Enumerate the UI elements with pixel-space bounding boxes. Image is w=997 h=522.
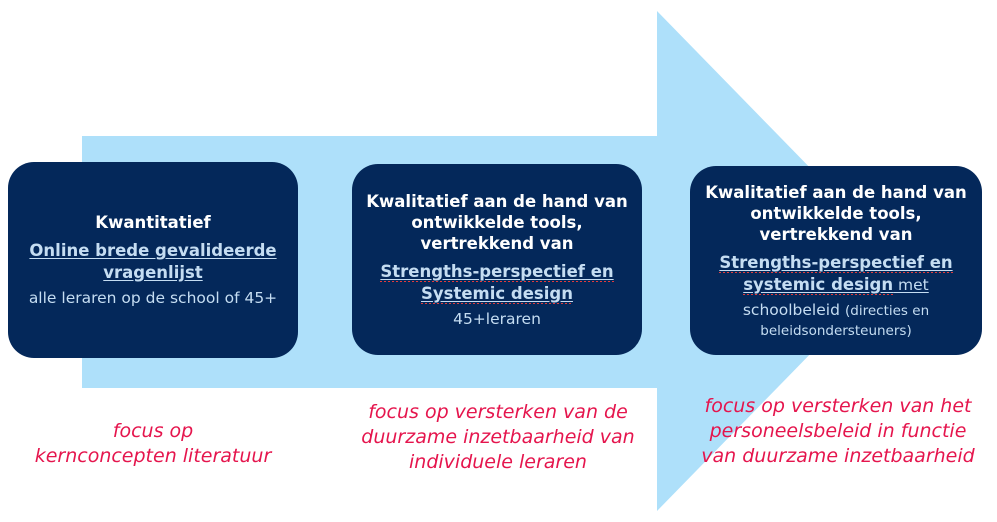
stage-3-caption-line-2: personeelsbeleid in functie [710, 420, 967, 442]
stage-2-caption-line-2: duurzame inzetbaarheid van [361, 426, 634, 448]
stage-2-heading-line-2: ontwikkelde tools, [411, 213, 582, 232]
stage-3-subtext-group: schoolbeleid (directies en beleidsonders… [702, 300, 970, 340]
stage-2-subtext: 45+leraren [453, 309, 541, 329]
stage-3-link-trailing-plain: met [893, 276, 929, 294]
stage-3-link-line-2: systemic design [743, 275, 893, 295]
stage-1-link[interactable]: Online brede gevalideerde vragenlijst [29, 240, 276, 284]
stage-box-3[interactable]: Kwalitatief aan de hand van ontwikkelde … [690, 166, 982, 355]
stage-1-link-line-1: Online brede gevalideerde [29, 241, 276, 260]
stage-2-heading: Kwalitatief aan de hand van ontwikkelde … [366, 191, 627, 254]
stage-box-1[interactable]: Kwantitatief Online brede gevalideerde v… [8, 162, 298, 358]
stage-3-subtext: schoolbeleid [743, 301, 840, 319]
stage-2-link-line-2: Systemic design [421, 284, 573, 304]
stage-2-caption-line-1: focus op versterken van de [368, 401, 628, 423]
stage-2-link-line-1: Strengths-perspectief en [380, 262, 613, 282]
stage-2-heading-line-3: vertrekkend van [421, 234, 574, 253]
stage-3-link[interactable]: Strengths-perspectief en systemic design… [719, 252, 952, 296]
stage-3-heading: Kwalitatief aan de hand van ontwikkelde … [705, 182, 966, 245]
stage-3-caption-line-3: van duurzame inzetbaarheid [701, 445, 974, 467]
stage-1-caption-line-1: focus op [113, 420, 193, 442]
stage-3-link-line-1: Strengths-perspectief en [719, 253, 952, 273]
stage-1-caption: focus op kernconcepten literatuur [8, 419, 298, 469]
stage-1-heading: Kwantitatief [95, 212, 210, 233]
stage-3-caption-line-1: focus op versterken van het [705, 395, 972, 417]
stage-1-link-line-2: vragenlijst [103, 263, 202, 282]
stage-3-heading-line-3: vertrekkend van [760, 225, 913, 244]
stage-2-caption: focus op versterken van de duurzame inze… [350, 400, 646, 475]
stage-3-caption: focus op versterken van het personeelsbe… [690, 394, 986, 469]
stage-2-link[interactable]: Strengths-perspectief en Systemic design [380, 261, 613, 305]
stage-box-2[interactable]: Kwalitatief aan de hand van ontwikkelde … [352, 164, 642, 355]
stage-3-heading-line-2: ontwikkelde tools, [750, 204, 921, 223]
stage-2-heading-line-1: Kwalitatief aan de hand van [366, 192, 627, 211]
stage-2-caption-line-3: individuele leraren [409, 451, 587, 473]
stage-3-heading-line-1: Kwalitatief aan de hand van [705, 183, 966, 202]
diagram-canvas: Kwantitatief Online brede gevalideerde v… [0, 0, 997, 522]
stage-1-caption-line-2: kernconcepten literatuur [35, 445, 272, 467]
stage-1-subtext: alle leraren op de school of 45+ [29, 288, 277, 308]
